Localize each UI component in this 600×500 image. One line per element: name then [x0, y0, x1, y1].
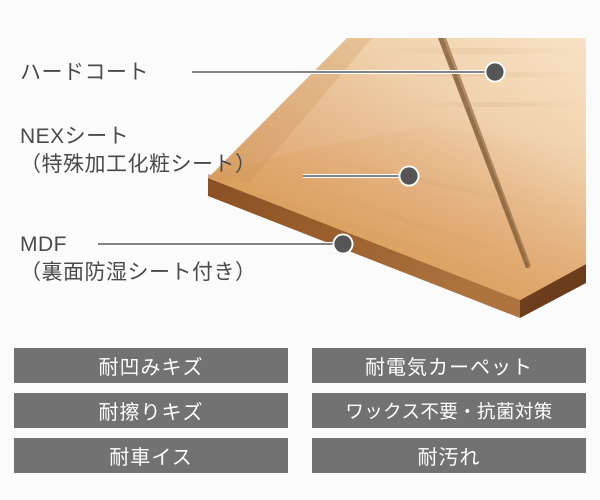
callout-nex-main: NEXシート — [20, 125, 129, 148]
board-illustration: ハードコート NEXシート （特殊加工化粧シート） MDF （裏面防湿シート付き… — [0, 0, 600, 335]
callout-mdf-sub: （裏面防湿シート付き） — [20, 259, 257, 287]
flooring-structure-diagram: ハードコート NEXシート （特殊加工化粧シート） MDF （裏面防湿シート付き… — [0, 0, 600, 500]
feature-badge-label: 耐車イス — [109, 441, 192, 470]
callout-nex-sub: （特殊加工化粧シート） — [20, 151, 257, 179]
feature-badge-label: 耐凹みキズ — [99, 351, 204, 380]
callout-label-mdf: MDF （裏面防湿シート付き） — [20, 231, 257, 287]
callout-hardcoat-main: ハードコート — [20, 61, 149, 84]
feature-badge-label: ワックス不要・抗菌対策 — [345, 398, 552, 424]
feature-badge: 耐電気カーペット — [312, 348, 586, 383]
feature-badge: 耐擦りキズ — [14, 393, 288, 428]
feature-badge-grid: 耐凹みキズ 耐電気カーペット 耐擦りキズ ワックス不要・抗菌対策 耐車イス 耐汚… — [14, 348, 586, 473]
feature-badge: 耐凹みキズ — [14, 348, 288, 383]
callout-mdf-main: MDF — [20, 233, 67, 256]
callout-label-hardcoat: ハードコート — [20, 59, 149, 87]
feature-badge: 耐車イス — [14, 438, 288, 473]
feature-badge-label: 耐汚れ — [418, 441, 481, 470]
feature-badge-label: 耐擦りキズ — [99, 396, 204, 425]
feature-badge-label: 耐電気カーペット — [365, 351, 533, 380]
feature-badge: 耐汚れ — [312, 438, 586, 473]
feature-badge: ワックス不要・抗菌対策 — [312, 393, 586, 428]
callout-label-nex: NEXシート （特殊加工化粧シート） — [20, 123, 257, 179]
